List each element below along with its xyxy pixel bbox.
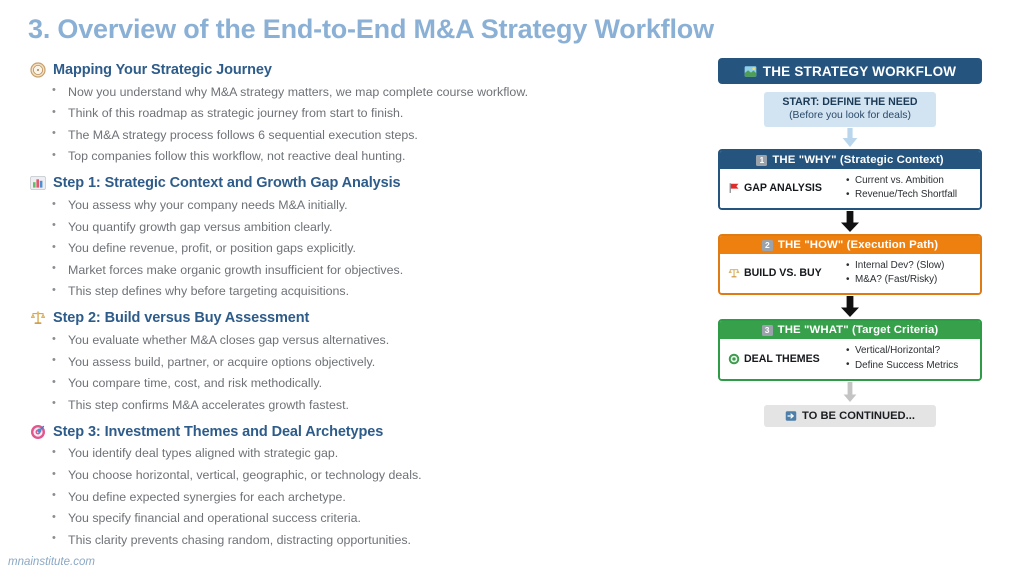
diagram-start-box: START: DEFINE THE NEED (Before you look … <box>764 92 936 127</box>
list-item: You quantify growth gap versus ambition … <box>48 216 670 238</box>
diagram-header-label: THE STRATEGY WORKFLOW <box>763 64 956 79</box>
diagram-header: THE STRATEGY WORKFLOW <box>718 58 982 84</box>
list-item: This step defines why before targeting a… <box>48 281 670 303</box>
stage-label-text: BUILD VS. BUY <box>744 267 822 279</box>
stage-point: Current vs. Ambition <box>846 174 957 188</box>
page-title: 3. Overview of the End-to-End M&A Strate… <box>28 14 714 45</box>
target-dart-icon <box>30 424 46 440</box>
arrow-right-box-icon <box>785 410 797 422</box>
stage-header: 3 THE "WHAT" (Target Criteria) <box>720 321 980 339</box>
list-item: You choose horizontal, vertical, geograp… <box>48 464 670 486</box>
stage-title: THE "HOW" (Execution Path) <box>778 239 938 251</box>
list-item: You define expected synergies for each a… <box>48 486 670 508</box>
section-step-2: Step 2: Build versus Buy Assessment You … <box>30 310 670 415</box>
end-box-label: TO BE CONTINUED... <box>802 410 915 422</box>
stage-point: Define Success Metrics <box>846 359 958 373</box>
section-heading: Step 2: Build versus Buy Assessment <box>30 310 670 326</box>
bullet-list: You evaluate whether M&A closes gap vers… <box>30 329 670 415</box>
list-item: Now you understand why M&A strategy matt… <box>48 81 670 103</box>
diagram-stage-why: 1 THE "WHY" (Strategic Context) GAP ANAL… <box>718 149 982 210</box>
stage-label-group: DEAL THEMES <box>728 353 846 365</box>
stage-point: Internal Dev? (Slow) <box>846 259 944 273</box>
start-box-line1: START: DEFINE THE NEED <box>770 96 930 109</box>
section-heading: Step 3: Investment Themes and Deal Arche… <box>30 424 670 440</box>
connector-arrow-1 <box>700 127 1000 149</box>
stage-title: THE "WHY" (Strategic Context) <box>772 154 943 166</box>
section-heading: Step 1: Strategic Context and Growth Gap… <box>30 175 670 191</box>
connector-arrow-3 <box>700 295 1000 319</box>
connector-arrow-4 <box>700 381 1000 405</box>
footer-website: mnainstitute.com <box>8 556 95 568</box>
connector-arrow-2 <box>700 210 1000 234</box>
stage-point: Revenue/Tech Shortfall <box>846 188 957 202</box>
stage-label-group: GAP ANALYSIS <box>728 182 846 194</box>
list-item: This clarity prevents chasing random, di… <box>48 529 670 551</box>
stage-label-text: DEAL THEMES <box>744 353 820 365</box>
stage-body: DEAL THEMES Vertical/Horizontal? Define … <box>720 339 980 378</box>
map-icon <box>744 65 757 78</box>
stage-label-text: GAP ANALYSIS <box>744 182 822 194</box>
list-item: Market forces make organic growth insuff… <box>48 259 670 281</box>
list-item: You identify deal types aligned with str… <box>48 443 670 465</box>
stage-header: 1 THE "WHY" (Strategic Context) <box>720 151 980 169</box>
list-item: You assess build, partner, or acquire op… <box>48 351 670 373</box>
diagram-stage-what: 3 THE "WHAT" (Target Criteria) DEAL THEM… <box>718 319 982 380</box>
stage-number-badge: 3 <box>762 325 773 336</box>
section-step-3: Step 3: Investment Themes and Deal Arche… <box>30 424 670 551</box>
bullet-list: You assess why your company needs M&A in… <box>30 194 670 302</box>
balance-scale-icon <box>728 267 740 279</box>
stage-number-badge: 1 <box>756 155 767 166</box>
stage-body: GAP ANALYSIS Current vs. Ambition Revenu… <box>720 169 980 208</box>
target-icon <box>728 353 740 365</box>
stage-title: THE "WHAT" (Target Criteria) <box>778 324 939 336</box>
stage-points: Internal Dev? (Slow) M&A? (Fast/Risky) <box>846 259 944 287</box>
list-item: You define revenue, profit, or position … <box>48 238 670 260</box>
stage-points: Current vs. Ambition Revenue/Tech Shortf… <box>846 174 957 202</box>
compass-icon <box>30 62 46 78</box>
diagram-stage-how: 2 THE "HOW" (Execution Path) BUILD VS. B… <box>718 234 982 295</box>
stage-number-badge: 2 <box>762 240 773 251</box>
stage-point: M&A? (Fast/Risky) <box>846 273 944 287</box>
list-item: Think of this roadmap as strategic journ… <box>48 103 670 125</box>
bullet-list: Now you understand why M&A strategy matt… <box>30 81 670 167</box>
stage-body: BUILD VS. BUY Internal Dev? (Slow) M&A? … <box>720 254 980 293</box>
strategy-workflow-diagram: THE STRATEGY WORKFLOW START: DEFINE THE … <box>700 58 1000 427</box>
bar-chart-icon <box>30 175 46 191</box>
start-box-line2: (Before you look for deals) <box>770 109 930 122</box>
content-column: Mapping Your Strategic Journey Now you u… <box>30 62 670 559</box>
list-item: This step confirms M&A accelerates growt… <box>48 394 670 416</box>
stage-points: Vertical/Horizontal? Define Success Metr… <box>846 344 958 372</box>
stage-header: 2 THE "HOW" (Execution Path) <box>720 236 980 254</box>
balance-scale-icon <box>30 310 46 326</box>
section-title: Mapping Your Strategic Journey <box>53 62 272 78</box>
list-item: You evaluate whether M&A closes gap vers… <box>48 329 670 351</box>
diagram-end-box: TO BE CONTINUED... <box>764 405 936 427</box>
section-heading: Mapping Your Strategic Journey <box>30 62 670 78</box>
section-step-1: Step 1: Strategic Context and Growth Gap… <box>30 175 670 302</box>
red-flag-icon <box>728 182 740 194</box>
section-title: Step 2: Build versus Buy Assessment <box>53 310 309 326</box>
list-item: You compare time, cost, and risk methodi… <box>48 373 670 395</box>
list-item: You assess why your company needs M&A in… <box>48 194 670 216</box>
list-item: Top companies follow this workflow, not … <box>48 146 670 168</box>
list-item: The M&A strategy process follows 6 seque… <box>48 124 670 146</box>
section-title: Step 1: Strategic Context and Growth Gap… <box>53 175 400 191</box>
section-title: Step 3: Investment Themes and Deal Arche… <box>53 424 383 440</box>
stage-label-group: BUILD VS. BUY <box>728 267 846 279</box>
list-item: You specify financial and operational su… <box>48 508 670 530</box>
bullet-list: You identify deal types aligned with str… <box>30 443 670 551</box>
section-mapping-your-strategic-journey: Mapping Your Strategic Journey Now you u… <box>30 62 670 167</box>
stage-point: Vertical/Horizontal? <box>846 344 958 358</box>
